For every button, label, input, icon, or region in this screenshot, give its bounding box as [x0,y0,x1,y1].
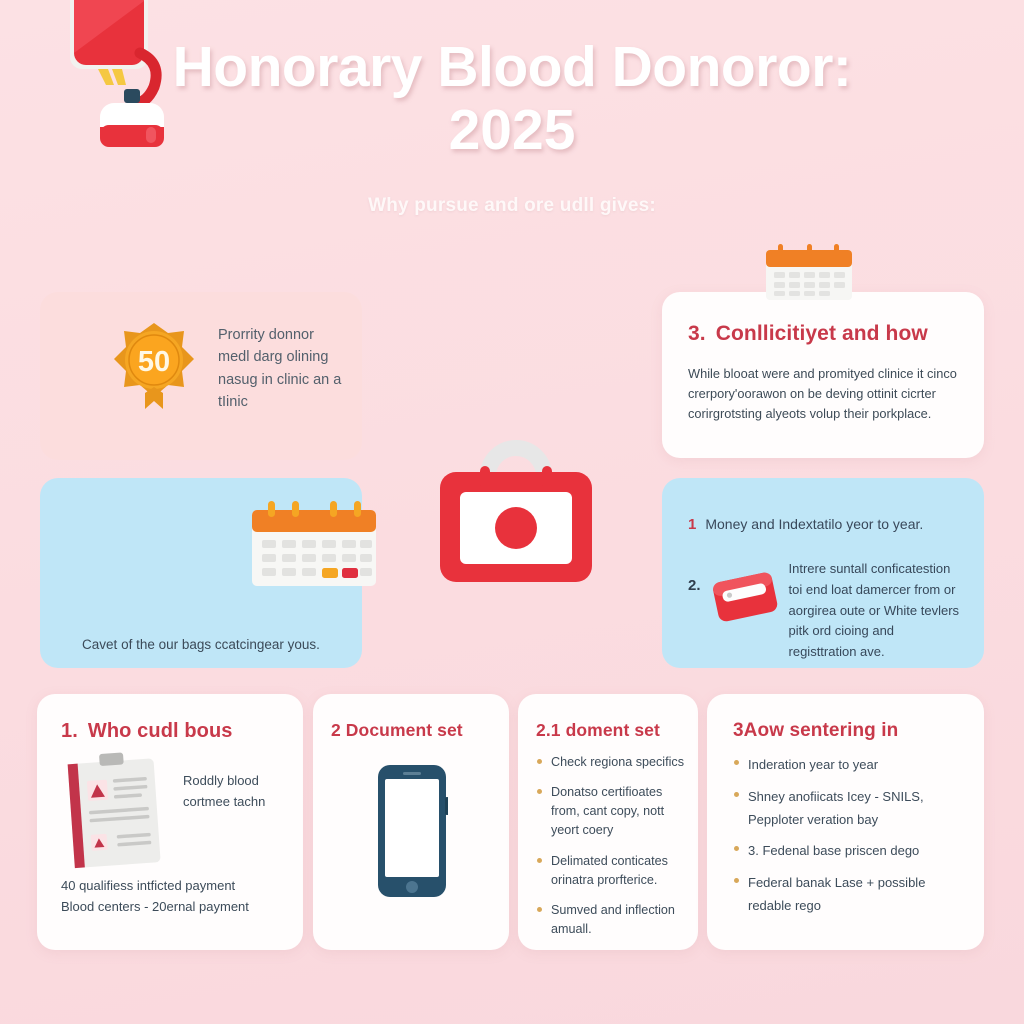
card-who-side-text: Roddly blood cortmee tachn [183,771,301,813]
card-who-qualifies[interactable]: 1.Who cudl bous [37,694,303,950]
infographic-poster: Honorary Blood Donoror: 2025 Why pursue … [0,0,1024,1024]
card-document-set[interactable]: 2 Document set [313,694,509,950]
card-priority-donor[interactable]: 50 Prorrity donnor medl darg olining nas… [40,292,362,460]
card-conflict-title: Conllicitiyet and how [716,322,928,345]
money-item-2-index: 2. [688,559,701,594]
medical-bag-icon [418,424,614,620]
list-item: Delimated conticates orinatra prorfteric… [536,852,684,890]
money-item-1: 1 Money and Indextatilo yeor to year. [688,516,962,533]
smartphone-icon [376,763,448,899]
list-item: Shney anofiicats Icey - SNILS, Pepploter… [733,786,964,832]
card-entering-heading: 3Aow sentering in [733,720,964,742]
list-item: Inderation year to year [733,754,964,777]
money-item-2-text: Intrere suntall conficatestion toi end l… [789,559,962,663]
card-conflict-number: 3. [688,322,706,345]
card-who-heading: 1.Who cudl bous [61,720,281,743]
card-money-indexation[interactable]: 1 Money and Indextatilo yeor to year. 2.… [662,478,984,668]
card-who-body: Roddly blood cortmee tachn [61,747,281,875]
medal-value: 50 [138,346,170,378]
card-conflict-and-how[interactable]: 3.Conllicitiyet and how While blooat wer… [662,292,984,458]
money-item-1-text: Money and Indextatilo yeor to year. [705,516,923,532]
medal-card-text: Prorrity donnor medl darg olining nasug … [218,324,344,414]
card-conflict-body: While blooat were and promityed clinice … [688,364,958,423]
card-how-entering[interactable]: 3Aow sentering in Inderation year to yea… [707,694,984,950]
money-item-2: 2. Intrere suntall conficatestion toi en… [688,559,962,663]
card-who-number: 1. [61,720,78,742]
card-conflict-heading: 3.Conllicitiyet and how [688,322,958,346]
card-blood-bag-schedule[interactable]: Cavet of the our bags ccatcingear yous. [40,478,362,668]
card-docset-heading: 2.1 doment set [536,720,684,741]
list-item: Check regiona specifics [536,753,684,772]
clipboard-icon [63,749,171,873]
blood-bag-caption: Cavet of the our bags ccatcingear yous. [40,637,362,652]
card-who-title: Who cudl bous [88,720,233,742]
card-document-heading: 2 Document set [331,720,493,741]
donor-card-icon [709,567,781,625]
page-subtitle: Why pursue and ore udll gives: [0,195,1024,217]
card-document-set-details[interactable]: 2.1 doment set Check regiona specifics D… [518,694,698,950]
list-item: Federal banak Lase + possible redable re… [733,872,964,918]
list-item: Donatso certifioates from, cant copy, no… [536,783,684,840]
card-docset-bullet-list: Check regiona specifics Donatso certifio… [536,753,684,939]
card-who-footer: 40 qualifiess intficted payment Blood ce… [61,875,281,918]
card-who-footer-line1: 40 qualifiess intficted payment [61,875,281,896]
card-entering-bullet-list: Inderation year to year Shney anofiicats… [733,754,964,918]
card-who-footer-line2: Blood centers - 20ernal payment [61,896,281,917]
list-item: 3. Fedenal base priscen dego [733,840,964,863]
calendar-icon [760,240,858,302]
list-item: Sumved and inflection amuall. [536,901,684,939]
money-item-1-index: 1 [688,516,696,533]
award-medal-icon: 50 [108,319,200,411]
blood-bag-icon [62,0,194,147]
calendar-icon [248,498,380,590]
